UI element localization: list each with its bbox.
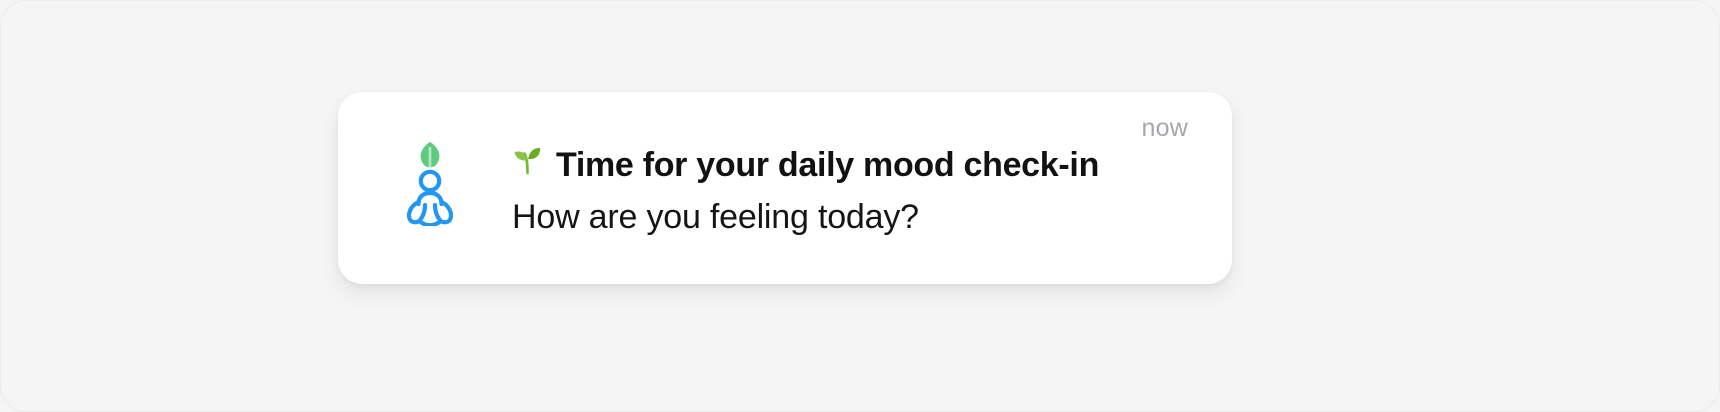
notification-title-row: Time for your daily mood check-in (512, 142, 1192, 184)
notification-body: How are you feeling today? (512, 198, 1192, 237)
notification-card[interactable]: now (338, 92, 1232, 284)
notification-timestamp: now (1142, 114, 1188, 143)
notification-content: Time for your daily mood check-in How ar… (512, 142, 1192, 237)
leaf-icon (421, 142, 440, 167)
notification-title: Time for your daily mood check-in (556, 147, 1099, 184)
meditating-person-with-leaf-icon (394, 136, 466, 226)
app-icon (394, 136, 466, 226)
seedling-emoji-icon (512, 142, 546, 176)
